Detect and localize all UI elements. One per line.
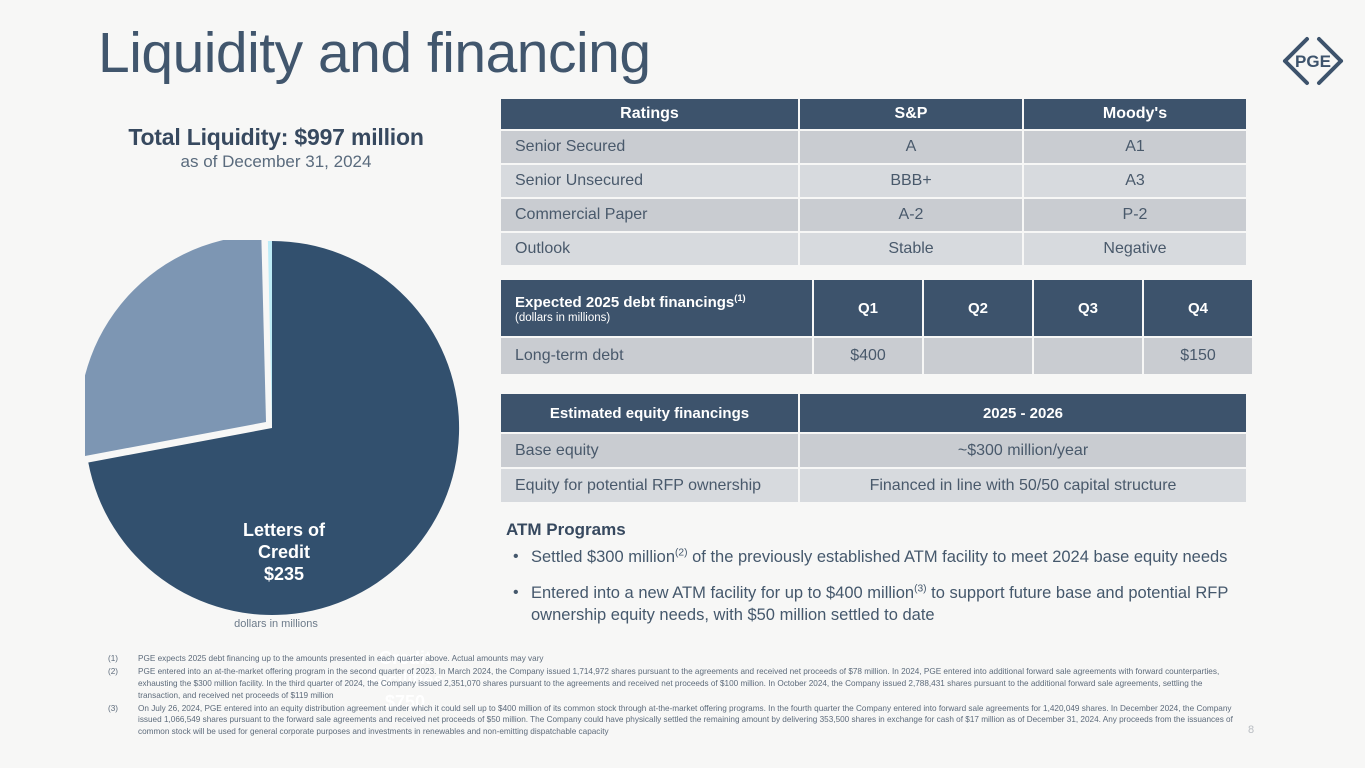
ratings-row-sp: BBB+ [800,165,1022,197]
pge-logo-text: PGE [1295,52,1331,71]
pie-footer-note: dollars in millions [85,618,467,630]
ratings-row-moodys: Negative [1024,233,1246,265]
table-row: Base equity ~$300 million/year [501,434,1246,467]
bullet-marker-icon: • [513,582,519,603]
ratings-row-sp: Stable [800,233,1022,265]
footnote-text: PGE entered into an at-the-market offeri… [138,667,1219,700]
table-row: Senior Unsecured BBB+ A3 [501,165,1246,197]
footnote-number: (1) [108,653,132,665]
liquidity-subheading: as of December 31, 2024 [98,152,454,172]
debt-header-subtitle: (dollars in millions) [515,312,812,324]
list-item: • Settled $300 million(2) of the previou… [506,546,1254,568]
pie-slice-letters-of-credit [85,240,266,457]
debt-row-q2 [924,338,1032,374]
pge-logo: PGE [1272,20,1354,102]
liquidity-heading: Total Liquidity: $997 million [98,124,454,151]
table-row: Senior Secured A A1 [501,131,1246,163]
table-header-row: Ratings S&P Moody's [501,99,1246,129]
debt-row-label: Long-term debt [501,338,812,374]
ratings-row-label: Senior Secured [501,131,798,163]
ratings-header-moodys: Moody's [1024,99,1246,129]
atm-bullet-text: Entered into a new ATM facility for up t… [531,584,1228,624]
atm-bullet-list: • Settled $300 million(2) of the previou… [506,546,1254,641]
ratings-row-moodys: P-2 [1024,199,1246,231]
table-row: Outlook Stable Negative [501,233,1246,265]
debt-row-q4: $150 [1144,338,1252,374]
debt-header-q4: Q4 [1144,280,1252,336]
ratings-row-label: Senior Unsecured [501,165,798,197]
ratings-header-label: Ratings [501,99,798,129]
debt-row-q3 [1034,338,1142,374]
slide-canvas: Liquidity and financing PGE Total Liquid… [0,0,1365,768]
footnote-number: (2) [108,666,132,678]
page-title: Liquidity and financing [98,24,651,84]
footnote-text: PGE expects 2025 debt financing up to th… [138,654,544,663]
debt-header-q3: Q3 [1034,280,1142,336]
equity-financings-table: Estimated equity financings 2025 - 2026 … [499,392,1248,504]
footnote-text: On July 26, 2024, PGE entered into an eq… [138,704,1233,737]
debt-row-q1: $400 [814,338,922,374]
footnote-item: (1) PGE expects 2025 debt financing up t… [108,653,1233,665]
ratings-row-moodys: A1 [1024,131,1246,163]
equity-row-label: Base equity [501,434,798,467]
pie-label-letters-of-credit: Letters of Credit $235 [217,520,351,586]
list-item: • Entered into a new ATM facility for up… [506,582,1254,626]
equity-header-period: 2025 - 2026 [800,394,1246,432]
footnote-item: (2) PGE entered into an at-the-market of… [108,666,1233,702]
table-row: Equity for potential RFP ownership Finan… [501,469,1246,502]
ratings-row-moodys: A3 [1024,165,1246,197]
ratings-row-label: Commercial Paper [501,199,798,231]
pge-logo-diamond-icon: PGE [1272,20,1354,102]
liquidity-pie-chart: Cash $12 Letters of Credit $235 Credit F… [85,195,467,635]
debt-header-footnote-marker: (1) [734,293,745,303]
ratings-header-sp: S&P [800,99,1022,129]
ratings-row-sp: A [800,131,1022,163]
atm-programs-heading: ATM Programs [506,520,626,540]
ratings-row-sp: A-2 [800,199,1022,231]
bullet-marker-icon: • [513,546,519,567]
ratings-table: Ratings S&P Moody's Senior Secured A A1 … [499,97,1248,267]
equity-header-label: Estimated equity financings [501,394,798,432]
debt-header-label: Expected 2025 debt financings(1) (dollar… [501,280,812,336]
debt-header-q2: Q2 [924,280,1032,336]
debt-header-q1: Q1 [814,280,922,336]
pie-slice-cash [268,241,272,428]
debt-financings-table: Expected 2025 debt financings(1) (dollar… [499,278,1254,376]
atm-bullet-text: Settled $300 million(2) of the previousl… [531,548,1227,566]
ratings-row-label: Outlook [501,233,798,265]
table-header-row: Estimated equity financings 2025 - 2026 [501,394,1246,432]
equity-row-value: ~$300 million/year [800,434,1246,467]
footnote-item: (3) On July 26, 2024, PGE entered into a… [108,703,1233,739]
footnote-number: (3) [108,703,132,715]
page-number: 8 [1248,724,1254,736]
table-header-row: Expected 2025 debt financings(1) (dollar… [501,280,1252,336]
table-row: Long-term debt $400 $150 [501,338,1252,374]
equity-row-value: Financed in line with 50/50 capital stru… [800,469,1246,502]
table-row: Commercial Paper A-2 P-2 [501,199,1246,231]
debt-header-title: Expected 2025 debt financings [515,294,734,311]
footnotes: (1) PGE expects 2025 debt financing up t… [108,653,1233,739]
equity-row-label: Equity for potential RFP ownership [501,469,798,502]
